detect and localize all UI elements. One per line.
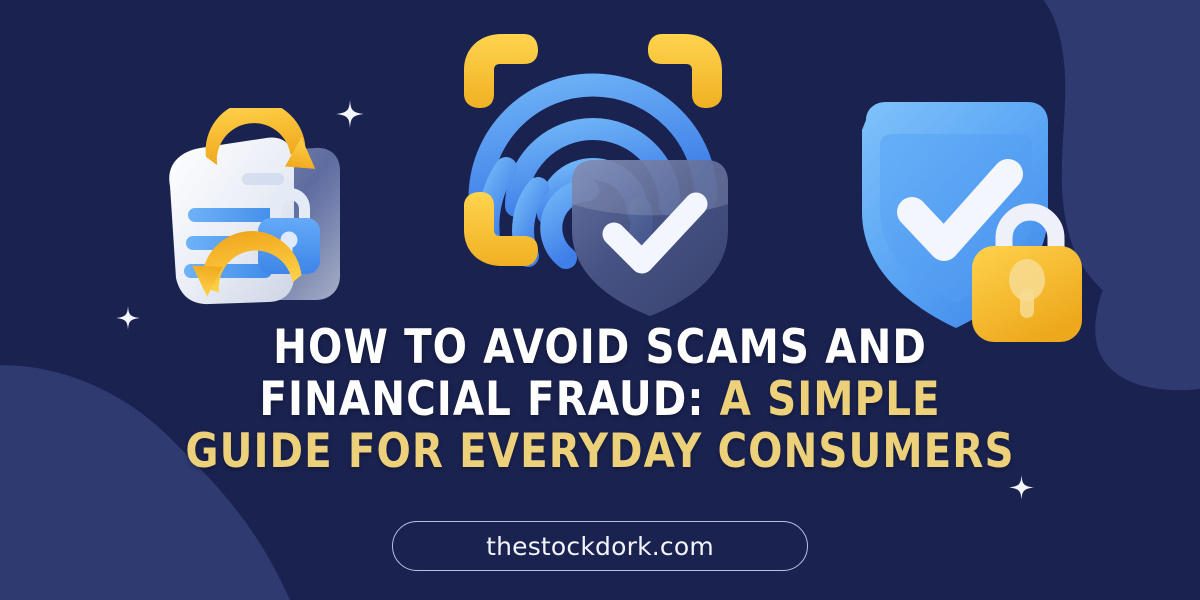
title-line-2: FINANCIAL FRAUD: A SIMPLE xyxy=(84,374,1116,426)
title-line-2-white: FINANCIAL FRAUD: xyxy=(259,372,704,427)
shield-check-lock-icon xyxy=(828,88,1098,353)
url-label: thestockdork.com xyxy=(486,532,714,561)
title-line-3: GUIDE FOR EVERYDAY CONSUMERS xyxy=(84,426,1116,478)
title-line-1: HOW TO AVOID SCAMS AND xyxy=(84,322,1116,374)
url-pill-wrapper: thestockdork.com xyxy=(0,521,1200,571)
padlock-keyhole-stem xyxy=(1020,288,1034,318)
title-block: HOW TO AVOID SCAMS AND FINANCIAL FRAUD: … xyxy=(0,322,1200,478)
fingerprint-scan-icon xyxy=(438,8,748,318)
title-line-2-accent: A SIMPLE xyxy=(720,372,941,427)
url-pill[interactable]: thestockdork.com xyxy=(392,521,808,571)
secure-document-icon xyxy=(148,108,378,323)
banner: HOW TO AVOID SCAMS AND FINANCIAL FRAUD: … xyxy=(0,0,1200,600)
document-header-bar xyxy=(242,173,284,185)
